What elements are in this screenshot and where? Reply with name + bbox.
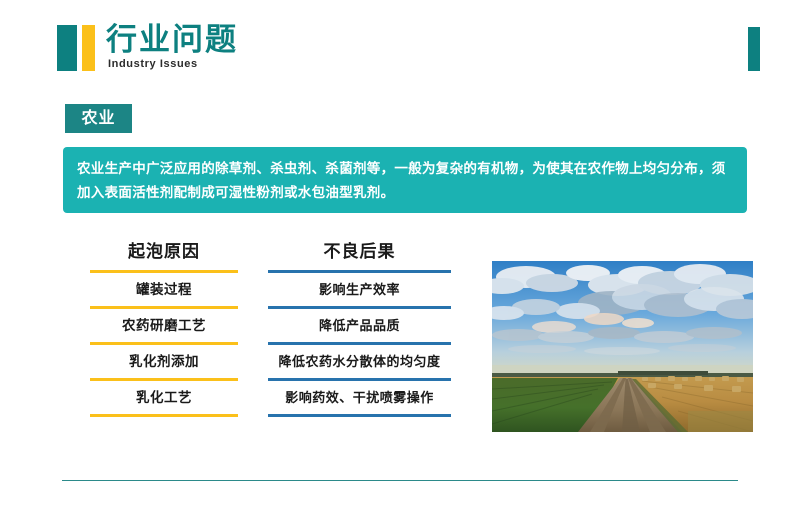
section-tab-label: 农业 — [81, 111, 115, 127]
slide-root: 行业问题 Industry Issues 农业 农业生产中广泛应用的除草剂、杀虫… — [0, 0, 800, 508]
effects-item-0: 影响生产效率 — [268, 273, 451, 306]
header-teal-bar-icon — [57, 25, 77, 71]
causes-item-1: 农药研磨工艺 — [90, 309, 238, 342]
slide-header: 行业问题 Industry Issues — [0, 0, 800, 95]
header-yellow-bar-icon — [82, 25, 95, 71]
effects-column-heading: 不良后果 — [268, 240, 451, 264]
effects-item-3: 影响药效、干扰喷雾操作 — [268, 381, 451, 414]
causes-column-heading: 起泡原因 — [90, 240, 238, 264]
page-title: 行业问题 — [106, 22, 238, 58]
intro-callout-box: 农业生产中广泛应用的除草剂、杀虫剂、杀菌剂等，一般为复杂的有机物，为使其在农作物… — [63, 147, 747, 213]
header-right-accent-bar-icon — [748, 27, 760, 71]
farmland-photo — [492, 261, 753, 432]
causes-item-3: 乳化工艺 — [90, 381, 238, 414]
causes-divider-4 — [90, 414, 238, 417]
effects-item-2: 降低农药水分散体的均匀度 — [268, 345, 451, 378]
causes-item-0: 罐装过程 — [90, 273, 238, 306]
effects-divider-4 — [268, 414, 451, 417]
footer-divider — [62, 480, 738, 481]
effects-item-1: 降低产品品质 — [268, 309, 451, 342]
section-tab-agriculture[interactable]: 农业 — [65, 104, 132, 133]
intro-paragraph: 农业生产中广泛应用的除草剂、杀虫剂、杀菌剂等，一般为复杂的有机物，为使其在农作物… — [77, 157, 733, 205]
effects-column: 不良后果 影响生产效率 降低产品品质 降低农药水分散体的均匀度 影响药效、干扰喷… — [268, 240, 451, 417]
causes-item-2: 乳化剂添加 — [90, 345, 238, 378]
causes-column: 起泡原因 罐装过程 农药研磨工艺 乳化剂添加 乳化工艺 — [90, 240, 238, 417]
page-subtitle: Industry Issues — [108, 58, 198, 70]
